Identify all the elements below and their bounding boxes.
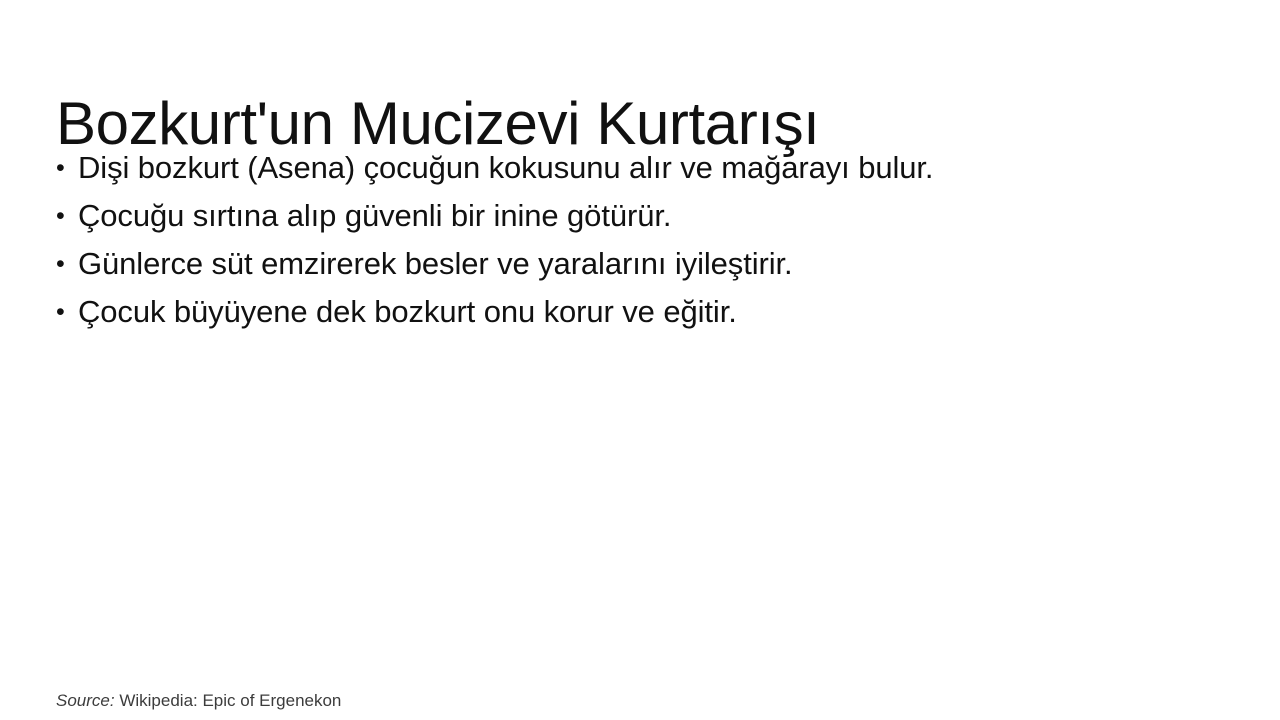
slide-canvas: Bozkurt'un Mucizevi Kurtarışı • Dişi boz…	[0, 0, 1280, 720]
list-item-label: Çocuğu sırtına alıp güvenli bir inine gö…	[78, 195, 671, 237]
bullet-point-icon: •	[56, 147, 78, 189]
bullet-point-icon: •	[56, 195, 78, 237]
source-label: Source:	[56, 691, 115, 710]
source-citation: Source: Wikipedia: Epic of Ergenekon	[56, 690, 341, 712]
source-value: Wikipedia: Epic of Ergenekon	[119, 691, 341, 710]
bullet-point-icon: •	[56, 291, 78, 333]
list-item-label: Çocuk büyüyene dek bozkurt onu korur ve …	[78, 291, 737, 333]
bullet-list: • Dişi bozkurt (Asena) çocuğun kokusunu …	[56, 147, 1206, 339]
list-item: • Çocuk büyüyene dek bozkurt onu korur v…	[56, 291, 1206, 339]
list-item-label: Günlerce süt emzirerek besler ve yaralar…	[78, 243, 793, 285]
list-item: • Dişi bozkurt (Asena) çocuğun kokusunu …	[56, 147, 1206, 195]
list-item: • Çocuğu sırtına alıp güvenli bir inine …	[56, 195, 1206, 243]
list-item-label: Dişi bozkurt (Asena) çocuğun kokusunu al…	[78, 147, 933, 189]
bullet-point-icon: •	[56, 243, 78, 285]
list-item: • Günlerce süt emzirerek besler ve yaral…	[56, 243, 1206, 291]
